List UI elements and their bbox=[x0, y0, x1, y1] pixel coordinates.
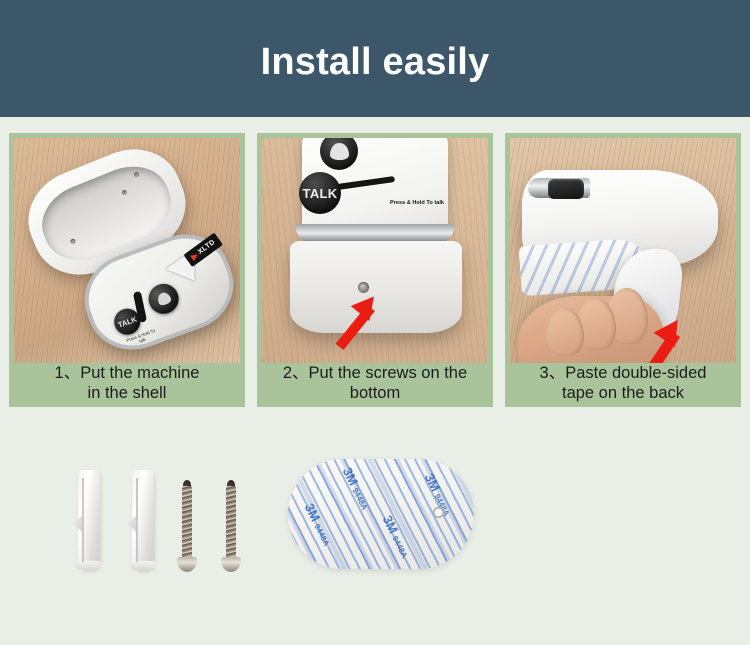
adhesive-tape-pad: 3M 9448A 3M 9448A 3M 9448A 3M 9448A bbox=[288, 459, 474, 569]
step-3-photo bbox=[510, 138, 736, 363]
tape-brand-label: 3M 9448A bbox=[380, 513, 414, 560]
step-card-1: TALK ▶ XLTD Press & Hold To talk 1、Put t… bbox=[9, 133, 245, 407]
step-2-caption-line2: bottom bbox=[283, 383, 467, 403]
screw-thread bbox=[226, 486, 236, 558]
mounting-bracket bbox=[290, 241, 462, 333]
screw-head bbox=[177, 557, 197, 572]
wall-anchor bbox=[132, 470, 154, 570]
page-title: Install easily bbox=[261, 37, 490, 81]
step-card-2: TALK Press & Hold To talk 2、Put the scre… bbox=[257, 133, 493, 407]
press-hold-note: Press & Hold To talk bbox=[390, 200, 444, 207]
screw-head bbox=[221, 557, 241, 572]
step-3-caption-line1: 3、Paste double-sided bbox=[540, 363, 707, 383]
brand-tag: ▶ XLTD bbox=[183, 233, 223, 267]
step-1-caption-line2: in the shell bbox=[55, 383, 200, 403]
tape-hole bbox=[433, 507, 444, 518]
step-1-photo: TALK ▶ XLTD Press & Hold To talk bbox=[14, 138, 240, 363]
anchor-lip bbox=[130, 561, 156, 570]
tape-code-label: 9448A bbox=[350, 487, 369, 512]
step-2-caption-line1: 2、Put the screws on the bbox=[283, 363, 467, 383]
switch-icon bbox=[548, 179, 584, 199]
mounting-screw bbox=[222, 480, 240, 572]
accessories-row: 3M 9448A 3M 9448A 3M 9448A 3M 9448A RING… bbox=[0, 425, 750, 605]
step-2-caption: 2、Put the screws on the bottom bbox=[262, 363, 488, 407]
step-1-caption: 1、Put the machine in the shell bbox=[14, 363, 240, 407]
step-2-photo: TALK Press & Hold To talk bbox=[262, 138, 488, 363]
step-3-caption: 3、Paste double-sided tape on the back bbox=[510, 363, 736, 407]
install-steps-row: TALK ▶ XLTD Press & Hold To talk 1、Put t… bbox=[9, 133, 741, 407]
tape-brand-label: 3M 9448A bbox=[302, 501, 336, 548]
tape-code-label: 9448A bbox=[312, 523, 331, 548]
page-header: Install easily bbox=[0, 0, 750, 117]
hardware-group bbox=[60, 470, 240, 580]
talk-button-icon: TALK bbox=[299, 172, 341, 214]
step-3-caption-line2: tape on the back bbox=[540, 383, 707, 403]
tape-code-label: 9448A bbox=[390, 535, 409, 560]
tape-brand-label: 3M 9448A bbox=[340, 465, 374, 512]
brand-tag-label: XLTD bbox=[197, 239, 217, 256]
step-1-caption-line1: 1、Put the machine bbox=[55, 363, 200, 383]
mounting-screw bbox=[178, 480, 196, 572]
anchor-lip bbox=[76, 561, 102, 570]
screw-thread bbox=[182, 486, 192, 558]
step-card-3: 3、Paste double-sided tape on the back bbox=[505, 133, 741, 407]
wall-anchor bbox=[78, 470, 100, 570]
